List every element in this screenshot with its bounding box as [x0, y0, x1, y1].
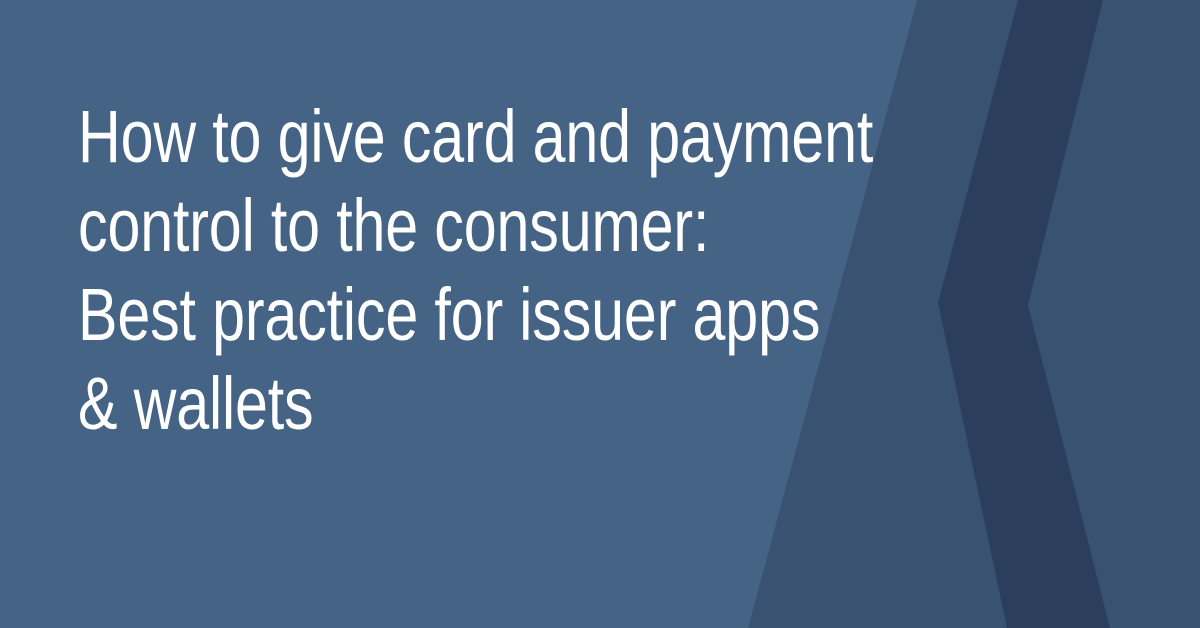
title-line-4: & wallets	[78, 359, 734, 448]
title-line-1: How to give card and payment	[78, 92, 734, 181]
title-line-2: control to the consumer:	[78, 181, 734, 270]
title-line-3: Best practice for issuer apps	[78, 270, 734, 359]
page-title: How to give card and payment control to …	[78, 92, 898, 448]
hero-card: How to give card and payment control to …	[0, 0, 1200, 628]
